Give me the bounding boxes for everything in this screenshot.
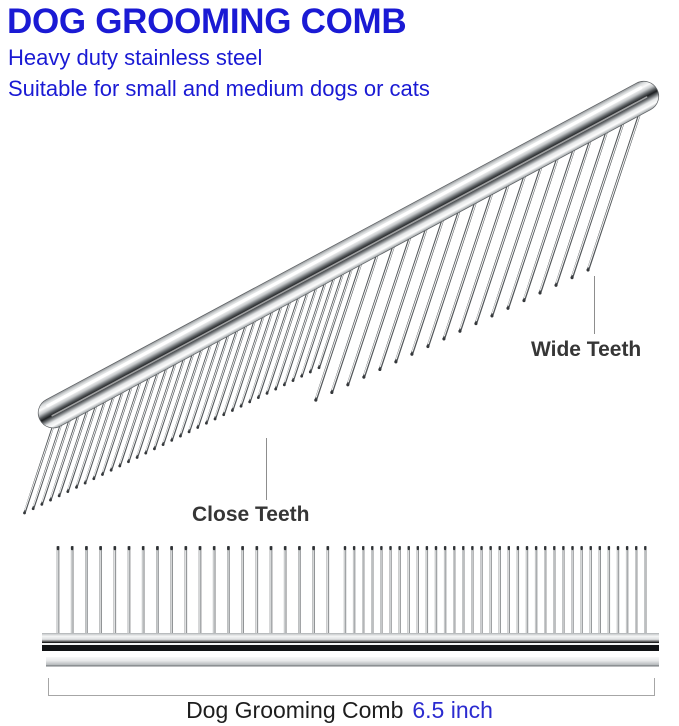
page-title: DOG GROOMING COMB — [7, 2, 406, 41]
caption-product-size: 6.5 inch — [412, 697, 493, 723]
product-subtitle-suitability: Suitable for small and medium dogs or ca… — [8, 76, 430, 102]
measurement-tick-right — [654, 678, 655, 696]
product-subtitle-material: Heavy duty stainless steel — [8, 45, 262, 71]
caption-product-name: Dog Grooming Comb — [186, 697, 403, 723]
measurement-bracket — [48, 676, 655, 696]
diagonal-comb-teeth — [23, 105, 643, 514]
horizontal-comb-bar — [42, 633, 659, 667]
product-image-canvas: DOG GROOMING COMB Heavy duty stainless s… — [0, 0, 679, 726]
measurement-tick-left — [48, 678, 49, 696]
horizontal-comb-teeth — [56, 546, 647, 641]
close-teeth-label: Close Teeth — [192, 503, 309, 527]
comb-illustration-group — [0, 0, 679, 726]
wide-teeth-label: Wide Teeth — [531, 338, 641, 362]
product-caption: Dog Grooming Comb6.5 inch — [0, 697, 679, 724]
close-teeth-leader-line — [266, 438, 267, 500]
measurement-bracket-bar — [48, 695, 655, 696]
diagonal-comb-spine — [33, 76, 664, 433]
wide-teeth-leader-line — [594, 276, 595, 334]
